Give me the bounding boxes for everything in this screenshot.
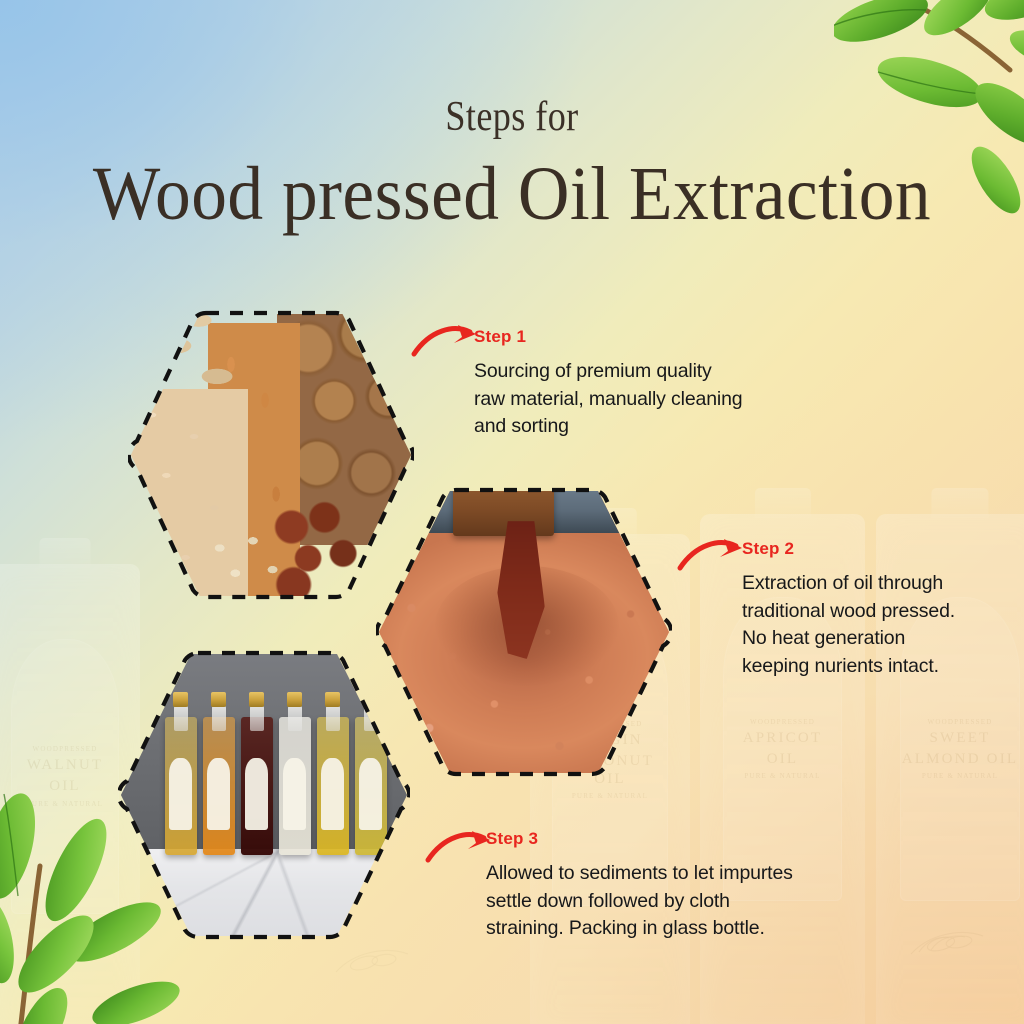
watermark-name-2: OIL [767,751,799,768]
step-3-line: settle down followed by cloth [486,888,886,916]
leaf-branch-icon [0,754,210,1024]
infographic-canvas: WOODPRESSED WALNUT OIL PURE & NATURAL WO… [0,0,1024,1024]
step-1-line: Sourcing of premium quality [474,358,804,386]
step-3-line: Allowed to sediments to let impurtes [486,860,886,888]
step-2-line: No heat generation [742,625,1024,653]
hexagon-dashed-border [376,482,672,782]
step-3-line: straining. Packing in glass bottle. [486,915,886,943]
watermark-bottle-neck [40,538,91,568]
step-3-text: Step 3 Allowed to sediments to let impur… [486,830,886,943]
watermark-name-1: APRICOT [743,730,823,747]
step-1-line: raw material, manually cleaning [474,386,804,414]
step-1-label: Step 1 [474,328,804,345]
watermark-brand: WOODPRESSED [928,718,993,726]
watermark-brand: WOODPRESSED [33,745,98,753]
step-1-line: and sorting [474,413,804,441]
step-2-line: keeping nurients intact. [742,653,1024,681]
step-2-line: traditional wood pressed. [742,598,1024,626]
watermark-foot: PURE & NATURAL [744,772,820,780]
watermark-name-2: ALMOND OIL [902,751,1019,768]
step-1-text: Step 1 Sourcing of premium quality raw m… [474,328,804,441]
step-1-body: Sourcing of premium quality raw material… [474,358,804,441]
watermark-bottle-neck [931,488,988,518]
watermark-foot: PURE & NATURAL [572,792,648,800]
watermark-name-1: SWEET [930,730,991,747]
leaf-branch-icon [834,0,1024,224]
watermark-sprig-icon [905,920,989,966]
watermark-bottle-neck [754,488,810,518]
step-1-image-hexagon [128,305,414,605]
step-2-image-hexagon [376,482,672,782]
step-2-label: Step 2 [742,540,1024,557]
step-2-text: Step 2 Extraction of oil through traditi… [742,540,1024,681]
step-2-body: Extraction of oil through traditional wo… [742,570,1024,681]
hexagon-dashed-border [128,305,414,605]
sub-title: Steps for [72,96,953,138]
step-3-label: Step 3 [486,830,886,847]
watermark-foot: PURE & NATURAL [922,772,998,780]
step-3-body: Allowed to sediments to let impurtes set… [486,860,886,943]
watermark-brand: WOODPRESSED [750,718,815,726]
curved-arrow-icon [676,530,748,574]
step-2-line: Extraction of oil through [742,570,1024,598]
curved-arrow-icon [410,316,482,360]
